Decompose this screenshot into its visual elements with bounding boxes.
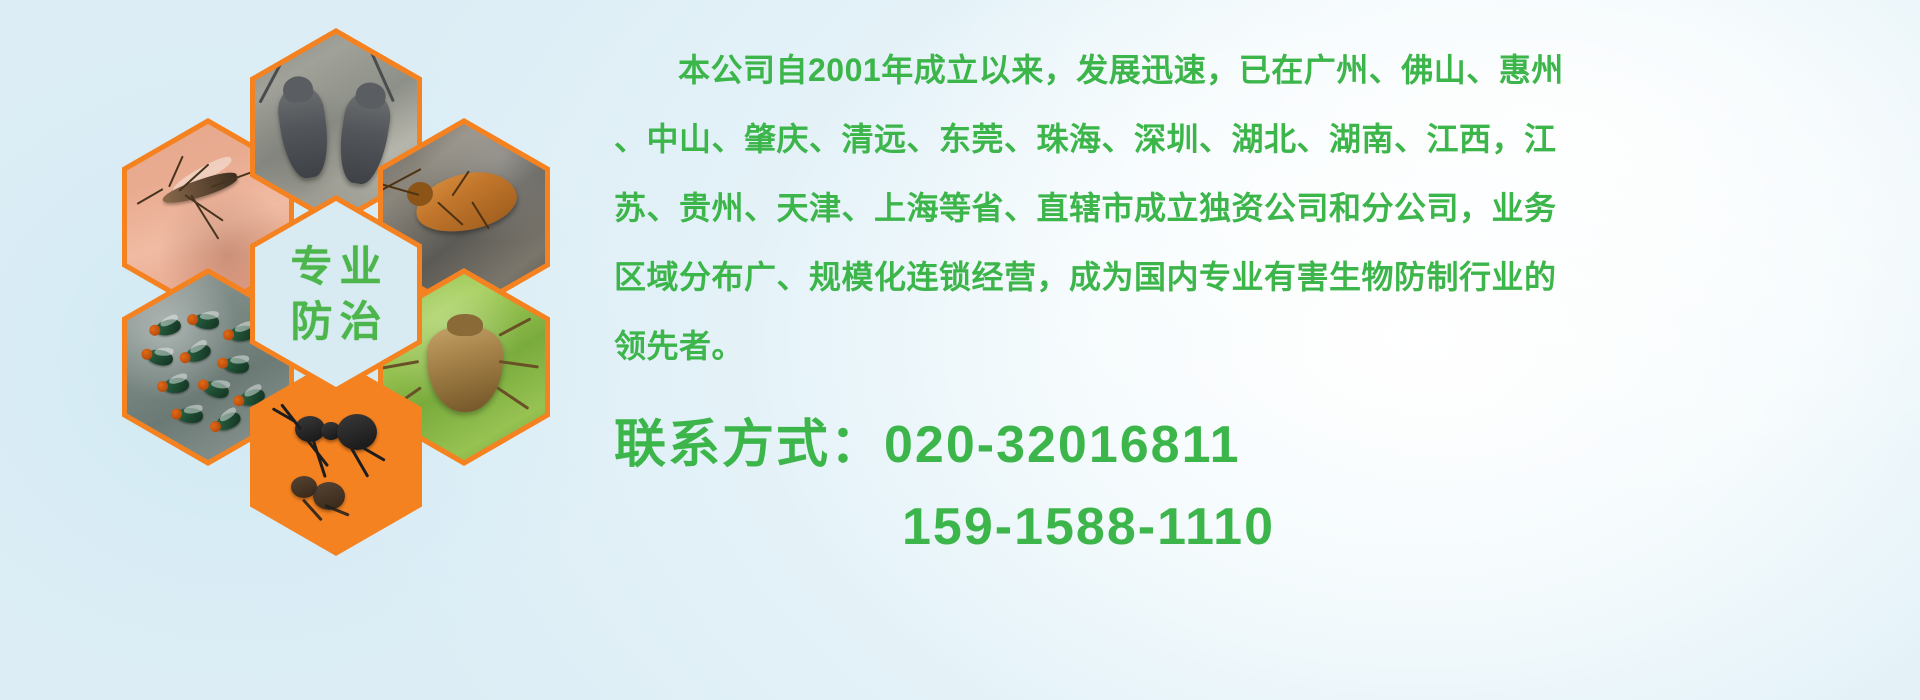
description-line-3: 苏、贵州、天津、上海等省、直辖市成立独资公司和分公司，业务 bbox=[614, 174, 1914, 243]
contact-block: 联系方式：020-32016811 159-1588-1110 bbox=[614, 404, 1275, 568]
contact-line-secondary[interactable]: 159-1588-1110 bbox=[614, 486, 1275, 568]
description-line-5: 领先者。 bbox=[614, 312, 1914, 381]
description-line-1: 本公司自2001年成立以来，发展迅速，已在广州、佛山、惠州 bbox=[614, 36, 1914, 105]
logo-line-1: 专业 bbox=[283, 239, 388, 294]
contact-line-primary[interactable]: 联系方式：020-32016811 bbox=[614, 404, 1275, 486]
company-description: 本公司自2001年成立以来，发展迅速，已在广州、佛山、惠州 、中山、肇庆、清远、… bbox=[614, 36, 1914, 381]
hex-photo-cluster: 专业 防治 bbox=[100, 10, 600, 570]
description-line-2: 、中山、肇庆、清远、东莞、珠海、深圳、湖北、湖南、江西，江 bbox=[614, 105, 1914, 174]
promotional-banner: 专业 防治 本公司自2001年成立以来，发展迅速，已在广州、佛山、惠州 、中山、… bbox=[0, 0, 1920, 700]
description-line-4: 区域分布广、规模化连锁经营，成为国内专业有害生物防制行业的 bbox=[614, 243, 1914, 312]
logo-line-2: 防治 bbox=[283, 294, 388, 349]
